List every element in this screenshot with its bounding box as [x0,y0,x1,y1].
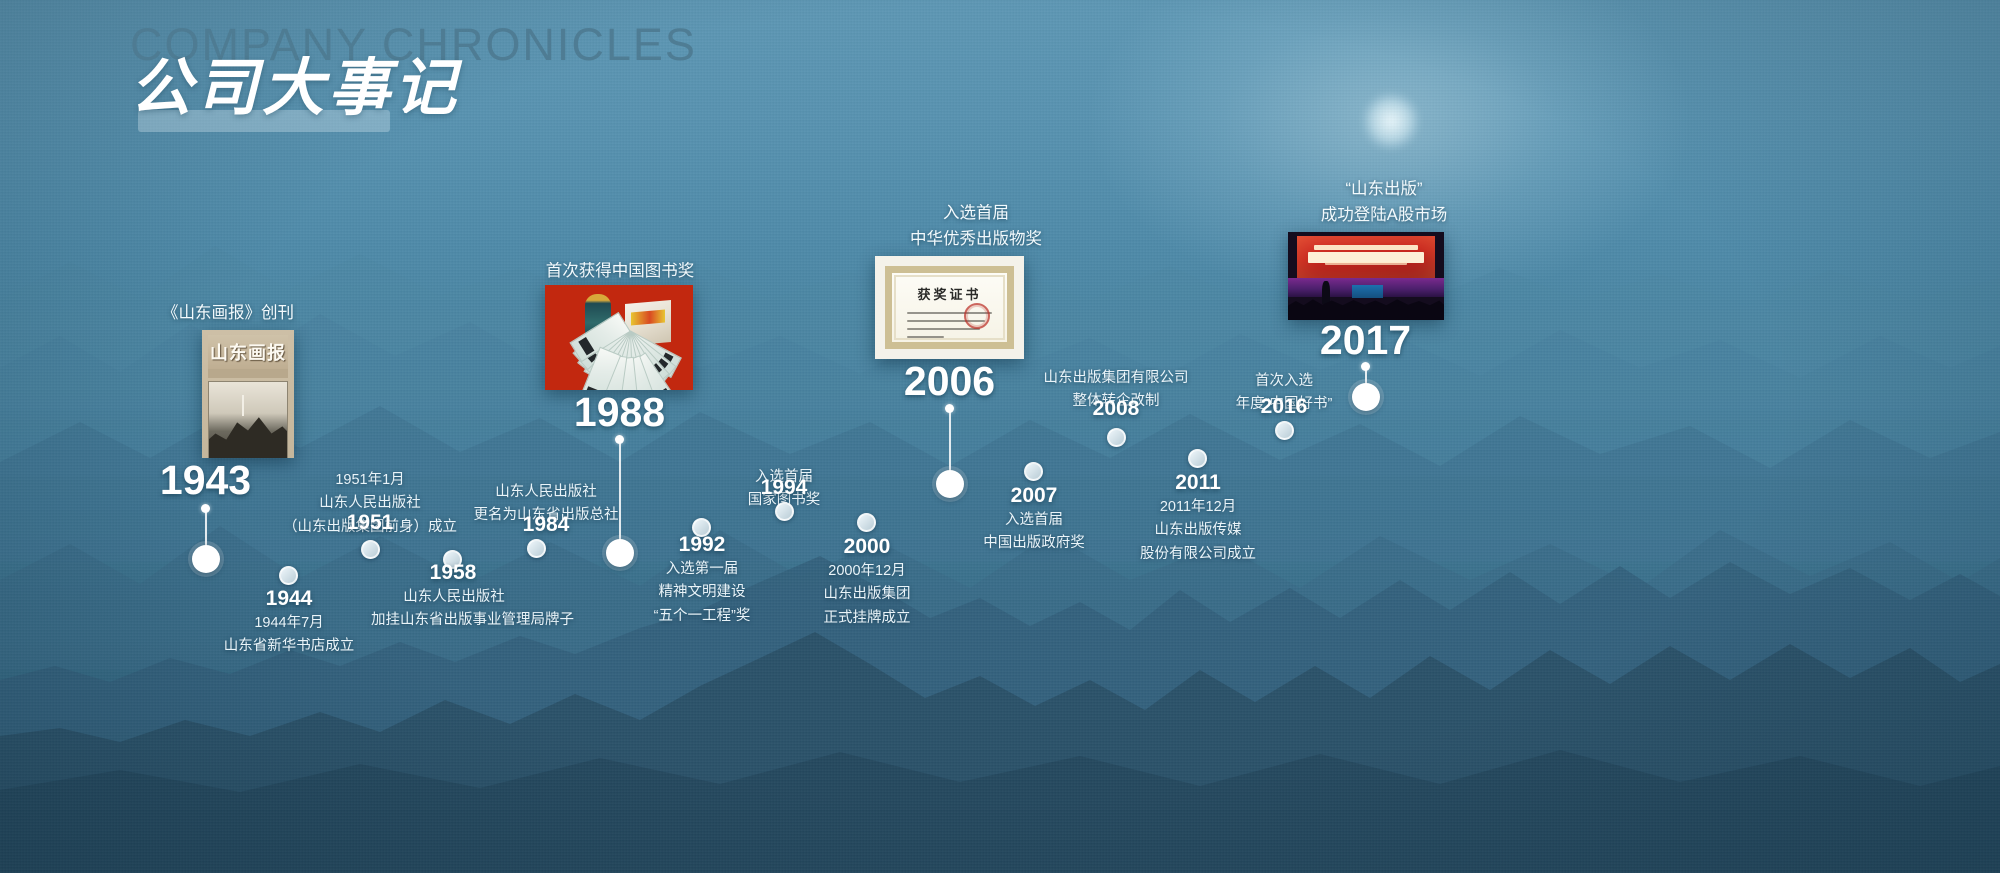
magazine-cover-illustration [208,381,288,458]
photo-china-book-award[interactable] [545,285,693,390]
event-2011-line-3: 股份有限公司成立 [1137,543,1259,566]
event-2000-line-1: 2000年12月 [806,560,928,583]
event-1944-node[interactable] [279,566,298,585]
event-1951-node[interactable] [361,540,380,559]
event-2011-line-2: 山东出版传媒 [1137,519,1259,542]
magazine-subtitle-bar [208,369,288,378]
event-1984-year: 1984 [475,514,617,535]
event-1958-year: 1958 [382,562,524,583]
event-1944-line-1: 1944年7月 [198,612,380,635]
event-1951-year: 1951 [299,512,441,533]
ipo-speaker-figure [1322,281,1330,304]
event-1992-line-1: 入选第一届 [637,558,767,581]
event-2017-title-line-1: “山东出版” [1270,176,1498,202]
event-1984-line-1: 山东人民出版社 [450,481,642,504]
event-1958-line-2: 加挂山东省出版事业管理局牌子 [371,609,537,632]
event-1943-year: 1943 [128,460,283,501]
event-2017-title-line-2: 成功登陆A股市场 [1270,202,1498,228]
certificate-seal-icon [964,303,990,329]
event-2000-node[interactable] [857,513,876,532]
event-1992-year: 1992 [631,534,773,555]
ipo-banner-line-2 [1308,252,1423,263]
ipo-podium [1352,285,1383,298]
event-2016-year: 2016 [1213,396,1355,417]
event-2008-line-1: 山东出版集团有限公司 [1028,367,1204,390]
event-1951-line-1: 1951年1月 [272,469,468,492]
event-1943-title: 《山东画报》创刊 [108,300,348,326]
event-2017-node[interactable] [1352,383,1380,411]
event-2006-title-line-1: 入选首届 [860,200,1092,226]
event-2016-node[interactable] [1275,421,1294,440]
event-2007-line-1: 入选首届 [973,509,1095,532]
magazine-masthead: 山东画报 [208,335,288,369]
event-1992-line-3: “五个一工程”奖 [637,605,767,628]
event-1988-stem [619,441,621,545]
event-1992-line-2: 精神文明建设 [637,581,767,604]
event-1984-node[interactable] [527,539,546,558]
event-1944-year: 1944 [218,588,360,609]
event-2006-title-line-2: 中华优秀出版物奖 [860,226,1092,252]
event-2017-year: 2017 [1288,320,1443,361]
award-certificates-fan [619,331,620,332]
event-2011-node[interactable] [1188,449,1207,468]
event-1994-node[interactable] [775,502,794,521]
infographic-stage: COMPANY CHRONICLES 公司大事记 《山东画报》创刊 山东画报 1… [0,0,2000,873]
ipo-banner-line-3 [1325,262,1407,265]
ipo-banner-line-1 [1314,245,1418,250]
event-2011-year: 2011 [1127,472,1269,493]
magazine-title-text: 山东画报 [208,335,288,369]
event-1988-node[interactable] [606,539,634,567]
photo-award-certificate[interactable]: 获奖证书 [875,256,1024,359]
ipo-led-banner [1297,236,1434,278]
event-2006-year: 2006 [872,361,1027,402]
event-1988-title: 首次获得中国图书奖 [500,258,740,284]
certificate-title: 获奖证书 [917,284,981,303]
event-2016-line-1: 首次入选 [1222,370,1346,393]
event-2006-stem [949,410,951,474]
event-2006-node[interactable] [936,470,964,498]
timeline-events: 《山东画报》创刊 山东画报 1943 1944 1944年7月 山东省新华书店成… [0,0,2000,873]
event-2007-node[interactable] [1024,462,1043,481]
event-1958-line-1: 山东人民出版社 [371,586,537,609]
photo-shandong-pictorial-cover[interactable]: 山东画报 [202,330,294,458]
event-2008-year: 2008 [1045,398,1187,419]
event-2007-year: 2007 [963,485,1105,506]
event-1994-year: 1994 [713,477,855,498]
event-1944-line-2: 山东省新华书店成立 [198,635,380,658]
event-2000-line-3: 正式挂牌成立 [806,607,928,630]
event-2011-line-1: 2011年12月 [1137,496,1259,519]
event-2000-year: 2000 [796,536,938,557]
event-2007-line-2: 中国出版政府奖 [973,532,1095,555]
certificate-frame: 获奖证书 [885,266,1014,349]
photo-ipo-ceremony[interactable] [1288,232,1444,320]
event-2000-line-2: 山东出版集团 [806,583,928,606]
event-1943-node[interactable] [192,545,220,573]
event-1988-year: 1988 [542,392,697,433]
event-2008-node[interactable] [1107,428,1126,447]
